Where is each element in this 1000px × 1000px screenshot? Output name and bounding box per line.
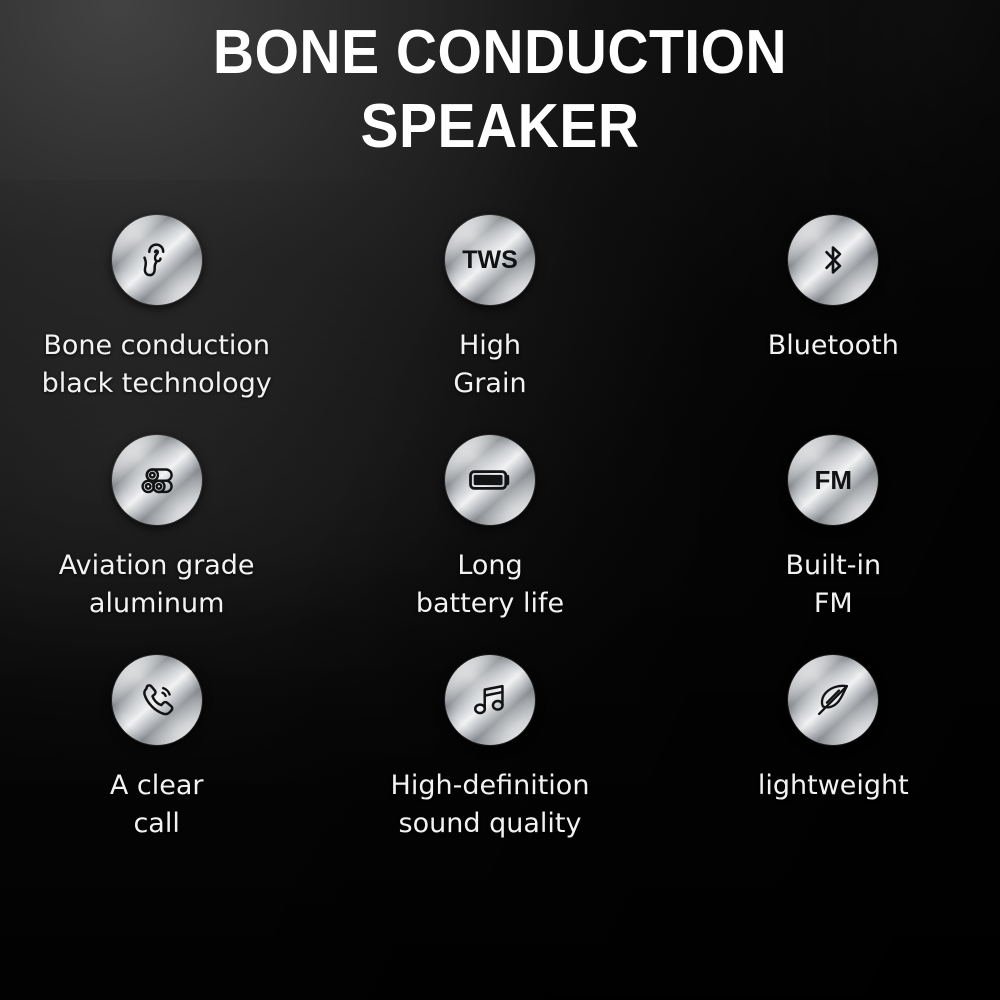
- feature-item-high-grain: TWS High Grain: [323, 215, 656, 403]
- badge-lightweight: [788, 655, 878, 745]
- feature-row-2: Aviation grade aluminum Long battery lif…: [0, 435, 1000, 623]
- badge-bluetooth: [788, 215, 878, 305]
- badge-battery: [445, 435, 535, 525]
- badge-fm: FM: [788, 435, 878, 525]
- feature-item-bone-conduction: Bone conduction black technology: [0, 215, 323, 403]
- phone-call-icon: [133, 676, 181, 724]
- badge-bone-conduction: [112, 215, 202, 305]
- badge-sound-quality: [445, 655, 535, 745]
- fm-text-icon: FM: [815, 467, 853, 493]
- feature-caption: Long battery life: [416, 547, 564, 623]
- feature-grid: Bone conduction black technology TWS Hig…: [0, 215, 1000, 875]
- feature-item-bluetooth: Bluetooth: [667, 215, 1000, 403]
- feature-item-battery-life: Long battery life: [323, 435, 656, 623]
- feature-caption: A clear call: [110, 767, 204, 843]
- feature-caption: Built-in FM: [786, 547, 882, 623]
- tws-text-icon: TWS: [462, 248, 518, 273]
- feature-item-aviation-aluminum: Aviation grade aluminum: [0, 435, 323, 623]
- feather-icon: [810, 677, 856, 723]
- feature-caption: High Grain: [453, 327, 526, 403]
- battery-full-icon: [464, 454, 516, 506]
- feature-item-built-in-fm: FM Built-in FM: [667, 435, 1000, 623]
- feature-caption: Bluetooth: [768, 327, 899, 365]
- feature-row-1: Bone conduction black technology TWS Hig…: [0, 215, 1000, 403]
- poster-title: BONE CONDUCTION SPEAKER: [0, 16, 1000, 164]
- music-note-icon: [467, 677, 513, 723]
- feature-caption: Aviation grade aluminum: [59, 547, 255, 623]
- feature-caption: lightweight: [758, 767, 909, 805]
- feature-caption: Bone conduction black technology: [42, 327, 272, 403]
- feature-item-clear-call: A clear call: [0, 655, 323, 843]
- badge-clear-call: [112, 655, 202, 745]
- ear-icon: [134, 237, 180, 283]
- feature-row-3: A clear call High-definition sound quali…: [0, 655, 1000, 843]
- aluminum-tubes-icon: [133, 456, 181, 504]
- badge-tws: TWS: [445, 215, 535, 305]
- bluetooth-icon: [811, 238, 855, 282]
- feature-item-lightweight: lightweight: [667, 655, 1000, 843]
- feature-item-sound-quality: High-definition sound quality: [323, 655, 656, 843]
- title-line-1: BONE CONDUCTION: [40, 16, 960, 90]
- badge-aviation-aluminum: [112, 435, 202, 525]
- feature-caption: High-definition sound quality: [391, 767, 590, 843]
- title-line-2: SPEAKER: [40, 90, 960, 164]
- product-feature-poster: BONE CONDUCTION SPEAKER Bone conduction …: [0, 0, 1000, 1000]
